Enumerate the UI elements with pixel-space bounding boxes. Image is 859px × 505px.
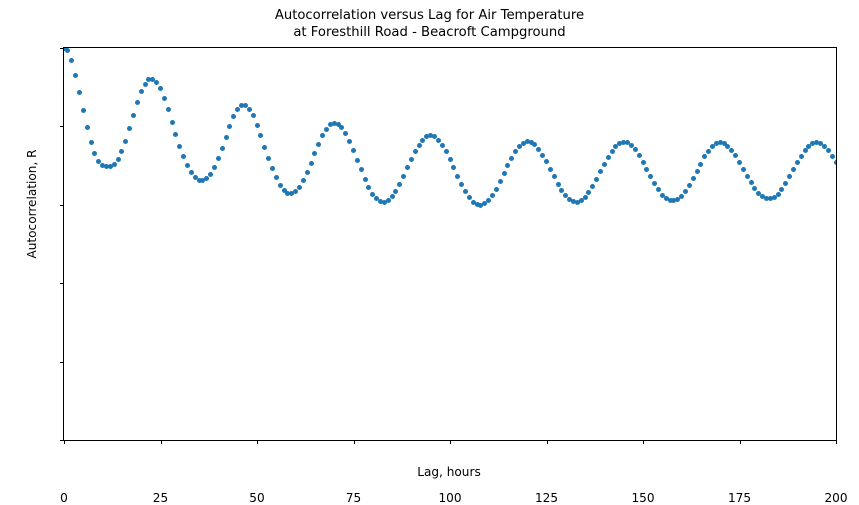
data-point	[355, 158, 360, 163]
x-tick-mark	[161, 440, 162, 444]
x-tick-mark	[836, 440, 837, 444]
data-point	[212, 165, 217, 170]
data-point	[417, 143, 422, 148]
data-point	[166, 107, 171, 112]
data-point	[363, 177, 368, 182]
data-point	[803, 148, 808, 153]
data-point	[656, 187, 661, 192]
data-point	[131, 113, 136, 118]
data-point	[143, 82, 148, 87]
x-tick-label: 200	[801, 492, 859, 504]
data-point	[127, 126, 132, 131]
x-tick-mark	[450, 440, 451, 444]
data-point	[459, 182, 464, 187]
data-point	[436, 138, 441, 143]
data-point	[498, 179, 503, 184]
x-tick-mark	[64, 440, 65, 444]
data-point	[552, 174, 557, 179]
data-point	[536, 147, 541, 152]
data-point	[177, 144, 182, 149]
data-point	[247, 107, 252, 112]
data-point	[158, 86, 163, 91]
data-point	[687, 183, 692, 188]
data-point	[85, 125, 90, 130]
data-point	[502, 171, 507, 176]
data-point	[695, 169, 700, 174]
data-point	[270, 166, 275, 171]
data-point	[544, 159, 549, 164]
data-point	[312, 151, 317, 156]
x-tick-label: 175	[705, 492, 775, 504]
data-point	[216, 156, 221, 161]
data-point	[224, 135, 229, 140]
x-tick-mark	[547, 440, 548, 444]
data-point	[494, 187, 499, 192]
x-tick-mark	[740, 440, 741, 444]
data-point	[641, 160, 646, 165]
data-point	[451, 165, 456, 170]
data-point	[590, 184, 595, 189]
data-point	[297, 185, 302, 190]
data-point	[490, 193, 495, 198]
data-point	[170, 120, 175, 125]
data-point	[320, 133, 325, 138]
data-point	[509, 156, 514, 161]
data-point	[266, 156, 271, 161]
data-point	[185, 163, 190, 168]
data-point	[73, 73, 78, 78]
data-point	[440, 143, 445, 148]
data-point	[112, 162, 117, 167]
data-point	[586, 190, 591, 195]
data-point	[648, 174, 653, 179]
data-point	[698, 162, 703, 167]
data-point	[386, 198, 391, 203]
data-point	[227, 124, 232, 129]
data-point	[220, 146, 225, 151]
data-point	[737, 160, 742, 165]
data-point	[779, 187, 784, 192]
data-point	[413, 149, 418, 154]
data-point	[598, 169, 603, 174]
data-point	[644, 167, 649, 172]
data-point	[486, 198, 491, 203]
data-point	[830, 154, 835, 159]
x-tick-mark	[257, 440, 258, 444]
data-point	[652, 181, 657, 186]
data-point	[606, 155, 611, 160]
data-point	[679, 194, 684, 199]
x-tick-label: 125	[512, 492, 582, 504]
data-point	[791, 167, 796, 172]
data-point	[637, 153, 642, 158]
data-point	[556, 182, 561, 187]
x-tick-mark	[354, 440, 355, 444]
data-point	[390, 194, 395, 199]
chart-figure: Autocorrelation versus Lag for Air Tempe…	[0, 0, 859, 491]
data-point	[463, 189, 468, 194]
y-tick-mark	[60, 283, 64, 284]
data-point	[610, 149, 615, 154]
data-point	[633, 147, 638, 152]
y-tick-mark	[60, 205, 64, 206]
data-point	[366, 185, 371, 190]
data-point	[305, 170, 310, 175]
data-point	[189, 170, 194, 175]
data-point	[116, 157, 121, 162]
data-point	[65, 48, 70, 53]
data-point	[316, 142, 321, 147]
data-point	[309, 161, 314, 166]
data-point	[278, 183, 283, 188]
data-point	[255, 123, 260, 128]
data-point	[181, 154, 186, 159]
x-tick-label: 0	[29, 492, 99, 504]
data-point	[594, 177, 599, 182]
data-point	[683, 189, 688, 194]
x-tick-label: 150	[608, 492, 678, 504]
data-point	[359, 167, 364, 172]
x-tick-mark	[643, 440, 644, 444]
data-point	[351, 148, 356, 153]
data-point	[262, 145, 267, 150]
scatter-series	[64, 48, 836, 440]
data-point	[343, 131, 348, 136]
data-point	[204, 176, 209, 181]
data-point	[251, 113, 256, 118]
data-point	[154, 80, 159, 85]
data-point	[749, 180, 754, 185]
y-tick-mark	[60, 362, 64, 363]
data-point	[135, 100, 140, 105]
data-point	[783, 181, 788, 186]
data-point	[77, 90, 82, 95]
data-point	[583, 195, 588, 200]
x-axis-label: Lag, hours	[63, 465, 835, 479]
data-point	[274, 175, 279, 180]
data-point	[548, 167, 553, 172]
data-point	[741, 167, 746, 172]
data-point	[795, 160, 800, 165]
data-point	[513, 149, 518, 154]
data-point	[397, 182, 402, 187]
data-point	[293, 189, 298, 194]
data-point	[81, 108, 86, 113]
x-tick-label: 75	[319, 492, 389, 504]
y-tick-mark	[60, 126, 64, 127]
data-point	[208, 172, 213, 177]
plot-area: 0.00.20.40.60.81.0 025507510012515017520…	[63, 47, 837, 441]
data-point	[505, 163, 510, 168]
data-point	[834, 160, 837, 165]
y-tick-mark	[60, 48, 64, 49]
data-point	[339, 125, 344, 130]
data-point	[776, 192, 781, 197]
data-point	[69, 58, 74, 63]
data-point	[444, 149, 449, 154]
data-point	[691, 176, 696, 181]
data-point	[258, 133, 263, 138]
data-point	[409, 157, 414, 162]
data-point	[393, 189, 398, 194]
data-point	[733, 153, 738, 158]
x-tick-label: 100	[415, 492, 485, 504]
data-point	[173, 132, 178, 137]
data-point	[826, 148, 831, 153]
data-point	[231, 114, 236, 119]
y-axis-label: Autocorrelation, R	[25, 64, 39, 344]
x-tick-label: 25	[126, 492, 196, 504]
data-point	[602, 162, 607, 167]
data-point	[123, 139, 128, 144]
data-point	[162, 96, 167, 101]
data-point	[324, 127, 329, 132]
data-point	[301, 178, 306, 183]
data-point	[455, 174, 460, 179]
data-point	[347, 139, 352, 144]
data-point	[89, 140, 94, 145]
data-point	[799, 154, 804, 159]
data-point	[401, 174, 406, 179]
data-point	[702, 154, 707, 159]
data-point	[745, 174, 750, 179]
data-point	[540, 153, 545, 158]
data-point	[139, 89, 144, 94]
data-point	[787, 174, 792, 179]
chart-title: Autocorrelation versus Lag for Air Tempe…	[0, 7, 859, 41]
data-point	[448, 157, 453, 162]
data-point	[729, 148, 734, 153]
data-point	[119, 149, 124, 154]
x-tick-label: 50	[222, 492, 292, 504]
data-point	[405, 165, 410, 170]
data-point	[92, 151, 97, 156]
data-point	[706, 149, 711, 154]
